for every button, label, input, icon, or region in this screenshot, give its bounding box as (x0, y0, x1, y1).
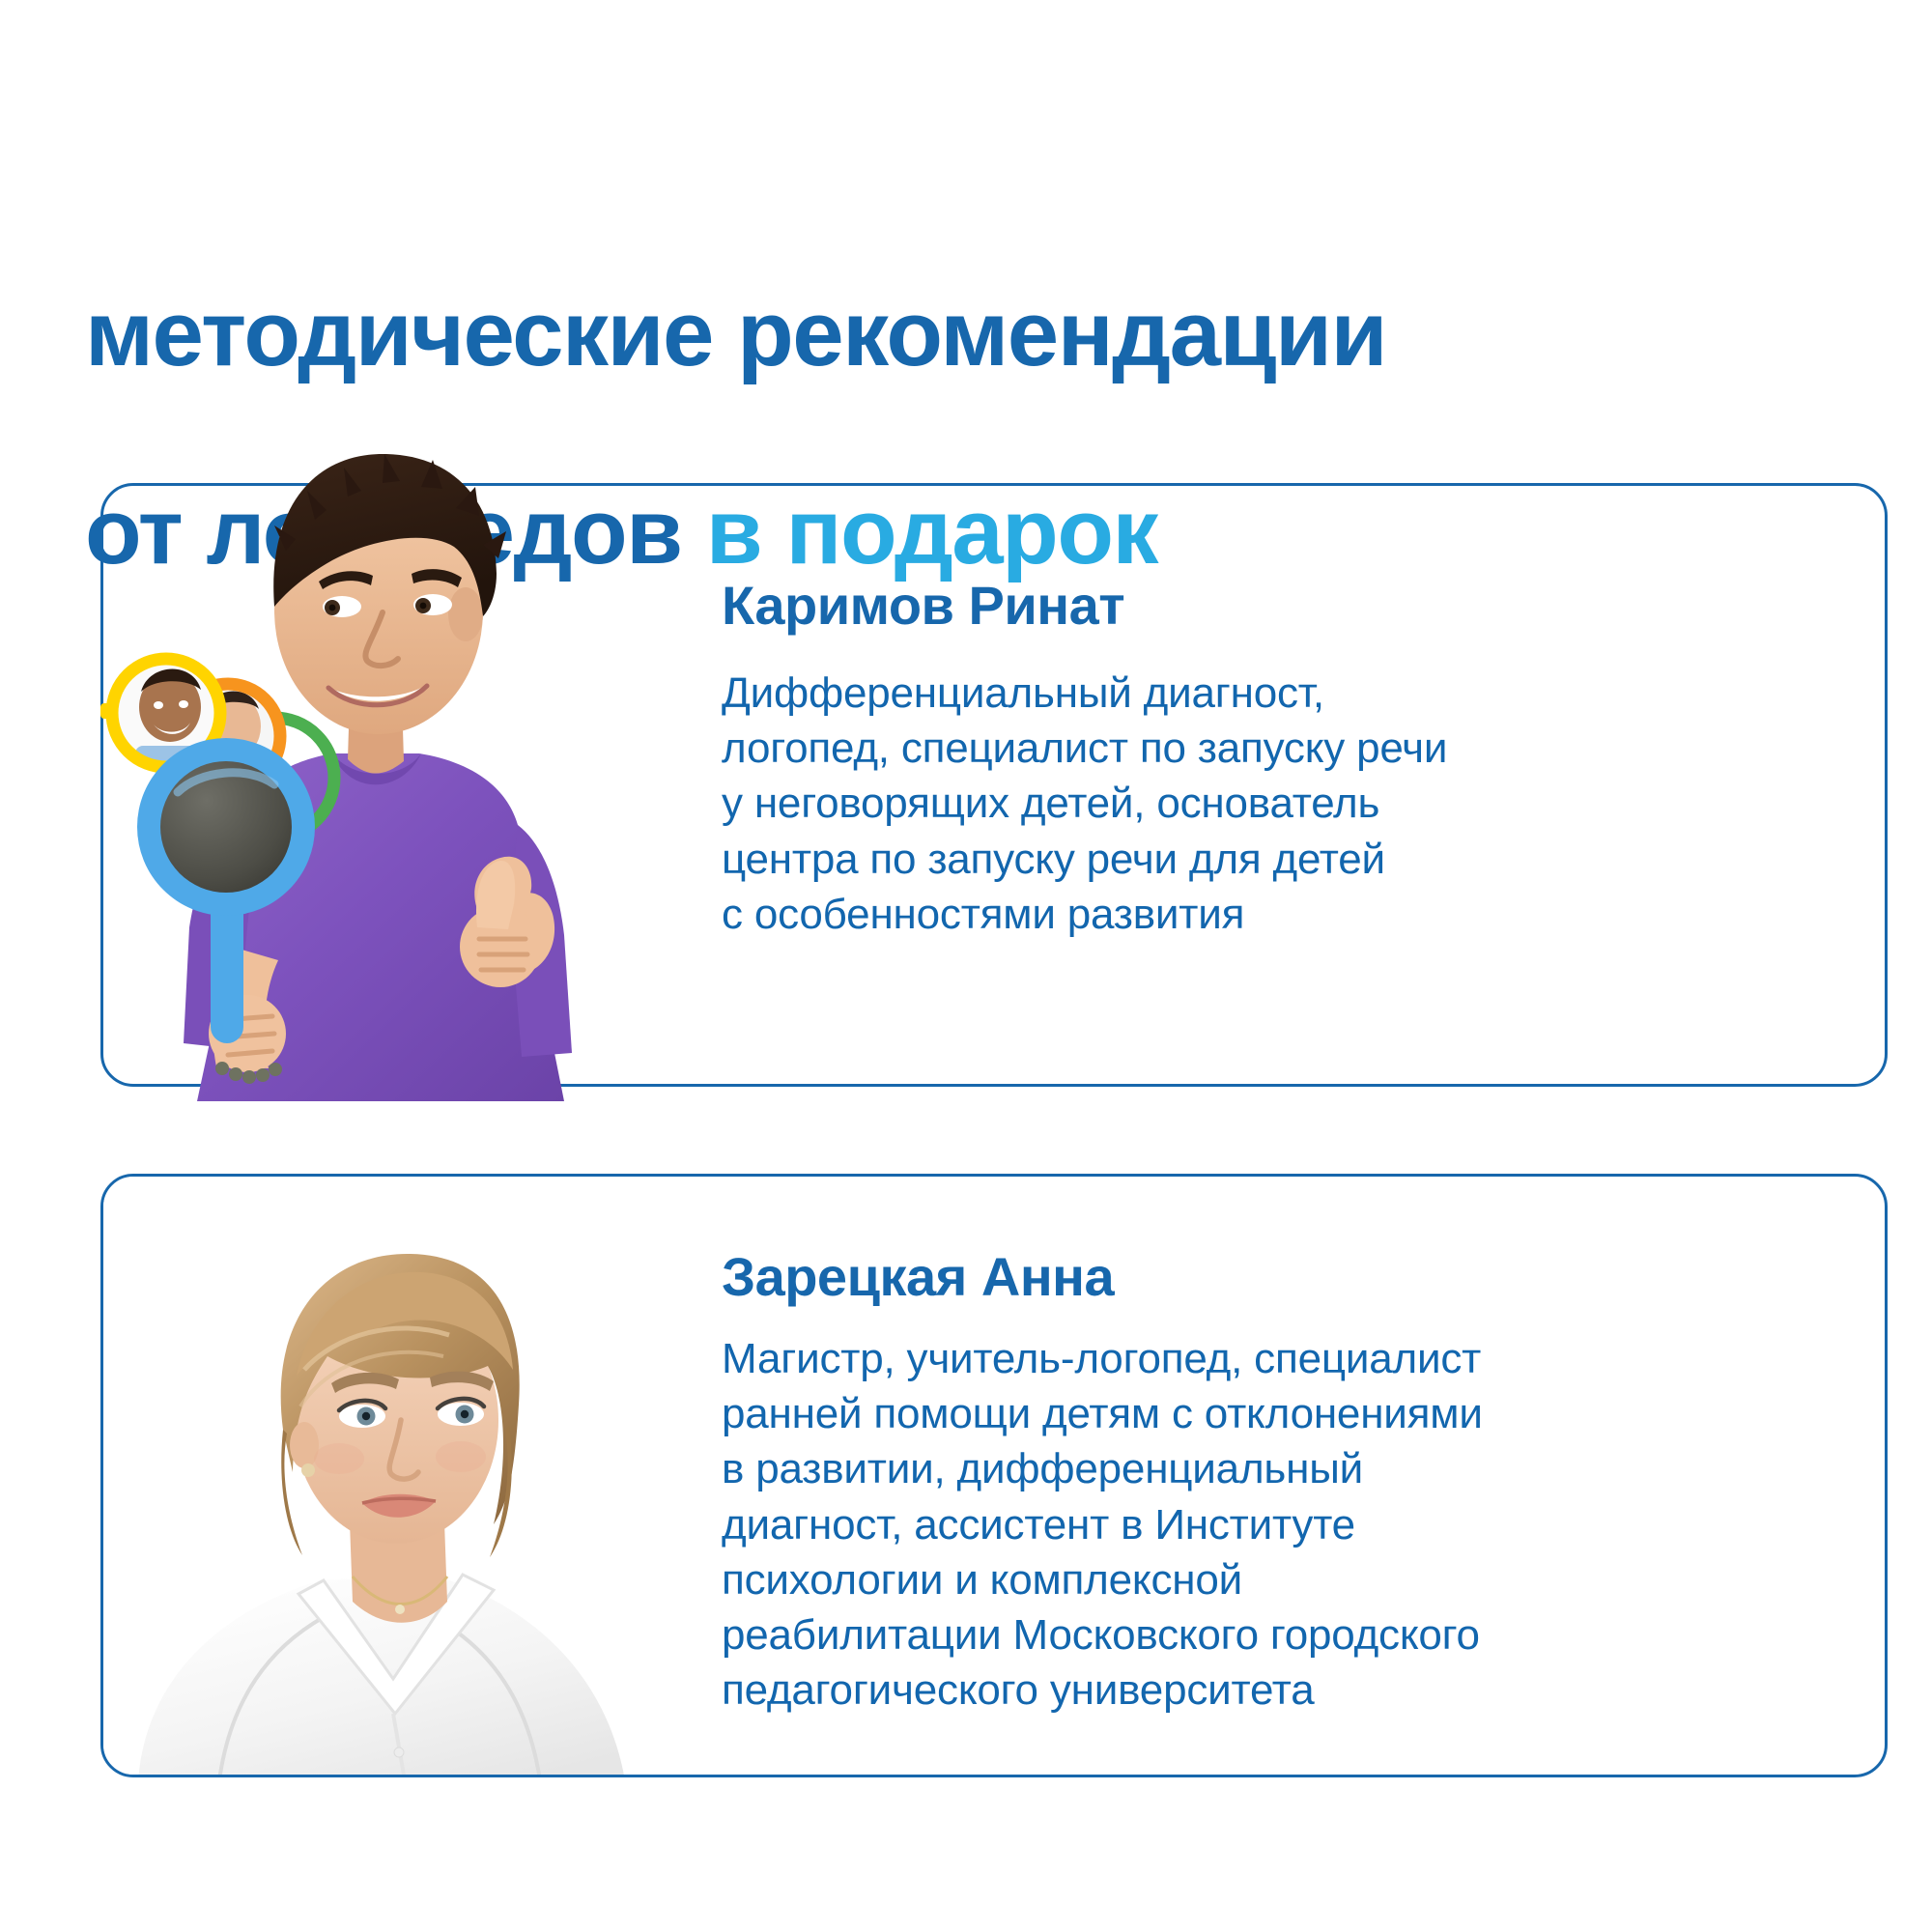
expert-name: Зарецкая Анна (722, 1250, 1846, 1304)
expert-description: Магистр, учитель-логопед, специалист ран… (722, 1331, 1846, 1718)
expert-card-zaretskaya: Зарецкая Анна Магистр, учитель-логопед, … (100, 1174, 1888, 1777)
expert-card-body: Каримов Ринат Дифференциальный диагност,… (722, 579, 1846, 942)
expert-card-karimov: Каримов Ринат Дифференциальный диагност,… (100, 483, 1888, 1087)
expert-photo-zaretskaya (103, 1177, 683, 1777)
expert-name: Каримов Ринат (722, 579, 1846, 633)
expert-description: Дифференциальный диагност, логопед, спец… (722, 666, 1846, 942)
page-title-line-1: методические рекомендации (85, 285, 1862, 384)
promo-poster: методические рекомендации от логопедов в… (0, 0, 1932, 1932)
expert-card-body: Зарецкая Анна Магистр, учитель-логопед, … (722, 1250, 1846, 1718)
